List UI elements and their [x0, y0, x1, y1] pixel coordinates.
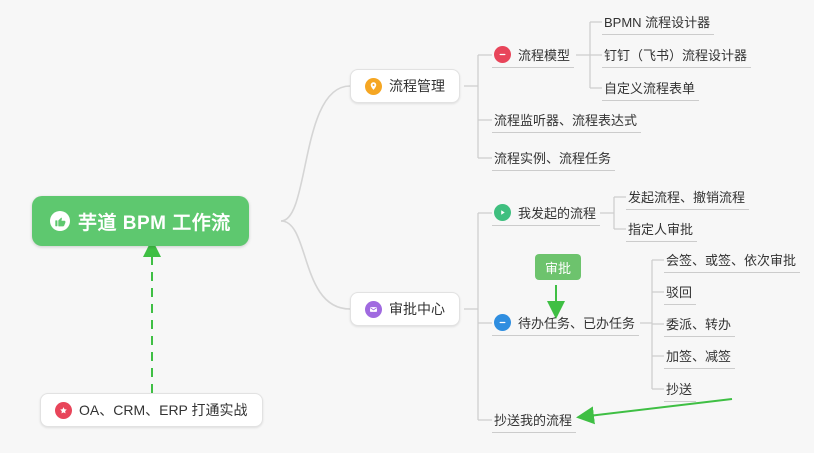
mail-circle-icon: [365, 301, 382, 318]
node-instance-task[interactable]: 流程实例、流程任务: [492, 145, 615, 171]
callout-integration-card[interactable]: OA、CRM、ERP 打通实战: [40, 393, 263, 427]
node-delegate-transfer-label: 委派、转办: [666, 314, 731, 333]
thumbs-up-icon: [50, 211, 70, 231]
node-multi-sign-label: 会签、或签、依次审批: [666, 250, 796, 269]
callout-approval-pill[interactable]: 审批: [535, 254, 581, 280]
node-add-remove-sign-label: 加签、减签: [666, 346, 731, 365]
node-multi-sign[interactable]: 会签、或签、依次审批: [664, 247, 800, 273]
node-custom-form[interactable]: 自定义流程表单: [602, 75, 699, 101]
node-delegate-transfer[interactable]: 委派、转办: [664, 311, 735, 337]
node-todo-done-tasks-label: 待办任务、已办任务: [518, 313, 635, 332]
node-bpmn-designer[interactable]: BPMN 流程设计器: [602, 9, 714, 35]
minus-circle-icon: [494, 46, 511, 63]
node-process-management-label: 流程管理: [389, 76, 445, 96]
node-start-cancel-process[interactable]: 发起流程、撤销流程: [626, 184, 749, 210]
mindmap-canvas: 芋道 BPM 工作流 流程管理 流程模型 BPMN 流程设计器 钉钉（飞书）流程…: [0, 0, 814, 453]
node-cc-to-me[interactable]: 抄送我的流程: [492, 407, 576, 433]
root-node-label: 芋道 BPM 工作流: [78, 208, 231, 235]
node-my-initiated-label: 我发起的流程: [518, 203, 596, 222]
node-instance-task-label: 流程实例、流程任务: [494, 148, 611, 167]
node-approval-center-label: 审批中心: [389, 299, 445, 319]
node-listener-expression[interactable]: 流程监听器、流程表达式: [492, 107, 641, 133]
node-process-management[interactable]: 流程管理: [350, 69, 460, 103]
play-circle-icon: [494, 204, 511, 221]
node-add-remove-sign[interactable]: 加签、减签: [664, 343, 735, 369]
node-custom-form-label: 自定义流程表单: [604, 78, 695, 97]
callout-approval-pill-label: 审批: [545, 258, 571, 277]
node-cc-label: 抄送: [666, 379, 692, 398]
star-circle-icon: [55, 402, 72, 419]
node-listener-expression-label: 流程监听器、流程表达式: [494, 110, 637, 129]
node-assigned-approver-label: 指定人审批: [628, 219, 693, 238]
node-reject-label: 驳回: [666, 282, 692, 301]
node-approval-center[interactable]: 审批中心: [350, 292, 460, 326]
node-my-initiated[interactable]: 我发起的流程: [492, 200, 600, 226]
node-process-model-label: 流程模型: [518, 45, 570, 64]
node-todo-done-tasks[interactable]: 待办任务、已办任务: [492, 310, 639, 336]
node-dingtalk-designer[interactable]: 钉钉（飞书）流程设计器: [602, 42, 751, 68]
node-process-model[interactable]: 流程模型: [492, 42, 574, 68]
node-bpmn-designer-label: BPMN 流程设计器: [604, 12, 710, 31]
node-dingtalk-designer-label: 钉钉（飞书）流程设计器: [604, 45, 747, 64]
node-cc[interactable]: 抄送: [664, 376, 696, 402]
node-assigned-approver[interactable]: 指定人审批: [626, 216, 697, 242]
node-reject[interactable]: 驳回: [664, 279, 696, 305]
location-pin-icon: [365, 78, 382, 95]
node-cc-to-me-label: 抄送我的流程: [494, 410, 572, 429]
root-node[interactable]: 芋道 BPM 工作流: [32, 196, 249, 246]
node-start-cancel-process-label: 发起流程、撤销流程: [628, 187, 745, 206]
callout-integration-card-label: OA、CRM、ERP 打通实战: [79, 400, 248, 420]
minus-circle-blue-icon: [494, 314, 511, 331]
